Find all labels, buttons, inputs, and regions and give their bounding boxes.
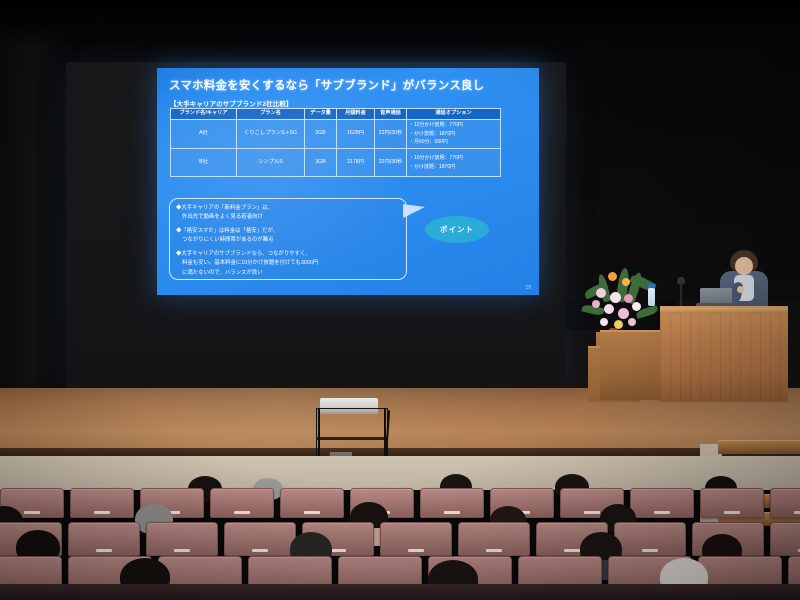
stage-curtain-left bbox=[0, 0, 72, 400]
callout-tail bbox=[403, 204, 425, 218]
column-header-voice: 音声通話 bbox=[375, 109, 407, 120]
bullet-line: 外出先で動画をよく見る若者向け bbox=[176, 213, 402, 222]
microphone-stand bbox=[680, 282, 682, 308]
column-header-fee: 月額料金 bbox=[337, 109, 375, 120]
cell-brand: B社 bbox=[171, 149, 237, 177]
option-line: ・10分かけ放題：770円 bbox=[409, 154, 499, 163]
option-line: ・10分かけ放題：770円 bbox=[409, 121, 499, 130]
projector-cart-shelf bbox=[316, 437, 388, 440]
cell-fee: 1628円 bbox=[337, 119, 375, 148]
bullet-line: に満たないので、バランスが良い bbox=[176, 269, 402, 278]
bullet-line: つながりにくい時間帯があるのが難点 bbox=[176, 236, 402, 245]
slide-title: スマホ料金を安くするなら「サブブランド」がバランス良し bbox=[169, 77, 529, 93]
cell-plan: くりこしプランS＋5G bbox=[237, 119, 305, 148]
cell-options: ・10分かけ放題：770円 ・かけ放題：1870円 bbox=[407, 149, 501, 177]
projected-slide: スマホ料金を安くするなら「サブブランド」がバランス良し 【大手キャリアのサブブラ… bbox=[157, 68, 539, 295]
column-header-data: データ量 bbox=[305, 109, 337, 120]
cell-fee: 2178円 bbox=[337, 149, 375, 177]
bullet-line: ◆大手キャリアのサブブランドなら、つながりやすく、 bbox=[176, 251, 311, 257]
cell-voice: 22円/30秒 bbox=[375, 119, 407, 148]
option-line: ・月60分：550円 bbox=[409, 138, 499, 147]
column-header-option: 通話オプション bbox=[407, 109, 501, 120]
callout-bullets: ◆大手キャリアの「新料金プラン」は、 外出先で動画をよく見る若者向け ◆「格安ス… bbox=[176, 204, 402, 283]
bullet-line: 料金も安い。基本料金に10分かけ放題を付けても3000円 bbox=[176, 259, 402, 268]
slide-page-number: 19 bbox=[525, 285, 531, 291]
point-badge: ポイント bbox=[425, 216, 489, 243]
presenter-face bbox=[735, 257, 753, 275]
option-line: ・かけ放題：1870円 bbox=[409, 163, 499, 172]
cell-options: ・10分かけ放題：770円 ・かけ放題：1870円 ・月60分：550円 bbox=[407, 119, 501, 148]
auditorium-scene: スマホ料金を安くするなら「サブブランド」がバランス良し 【大手キャリアのサブブラ… bbox=[0, 0, 800, 600]
bullet-line: ◆「格安スマホ」は料金は「格安」だが、 bbox=[176, 228, 278, 234]
callout-bubble: ◆大手キャリアの「新料金プラン」は、 外出先で動画をよく見る若者向け ◆「格安ス… bbox=[169, 198, 407, 280]
point-badge-label: ポイント bbox=[440, 224, 474, 235]
column-header-plan: プラン名 bbox=[237, 109, 305, 120]
bullet-line: ◆大手キャリアの「新料金プラン」は、 bbox=[176, 205, 273, 211]
stair-step bbox=[718, 440, 800, 454]
cell-plan: シンプルS bbox=[237, 149, 305, 177]
cell-voice: 22円/30秒 bbox=[375, 149, 407, 177]
presenter-hand bbox=[737, 286, 744, 293]
comparison-table: ブランド名/キャリア プラン名 データ量 月額料金 音声通話 通話オプション A… bbox=[170, 108, 501, 177]
bullet-item: ◆大手キャリアの「新料金プラン」は、 外出先で動画をよく見る若者向け bbox=[176, 204, 402, 223]
bullet-item: ◆「格安スマホ」は料金は「格安」だが、 つながりにくい時間帯があるのが難点 bbox=[176, 227, 402, 246]
podium-wood-grain bbox=[660, 314, 788, 402]
aisle-floor bbox=[0, 584, 800, 600]
cell-data: 3GB bbox=[305, 149, 337, 177]
podium-side-block bbox=[600, 330, 662, 400]
table-header-row: ブランド名/キャリア プラン名 データ量 月額料金 音声通話 通話オプション bbox=[171, 109, 501, 120]
audience-seating bbox=[0, 470, 800, 600]
cell-brand: A社 bbox=[171, 119, 237, 148]
option-line: ・かけ放題：1870円 bbox=[409, 130, 499, 139]
cell-data: 3GB bbox=[305, 119, 337, 148]
table-row: A社 くりこしプランS＋5G 3GB 1628円 22円/30秒 ・10分かけ放… bbox=[171, 119, 501, 148]
slide-subtitle: 【大手キャリアのサブブランド2社比較】 bbox=[170, 98, 293, 108]
water-bottle bbox=[648, 288, 655, 306]
column-header-brand: ブランド名/キャリア bbox=[171, 109, 237, 120]
table-row: B社 シンプルS 3GB 2178円 22円/30秒 ・10分かけ放題：770円… bbox=[171, 149, 501, 177]
bullet-item: ◆大手キャリアのサブブランドなら、つながりやすく、 料金も安い。基本料金に10分… bbox=[176, 250, 402, 278]
podium bbox=[660, 306, 788, 402]
ceiling-shadow bbox=[0, 0, 800, 46]
